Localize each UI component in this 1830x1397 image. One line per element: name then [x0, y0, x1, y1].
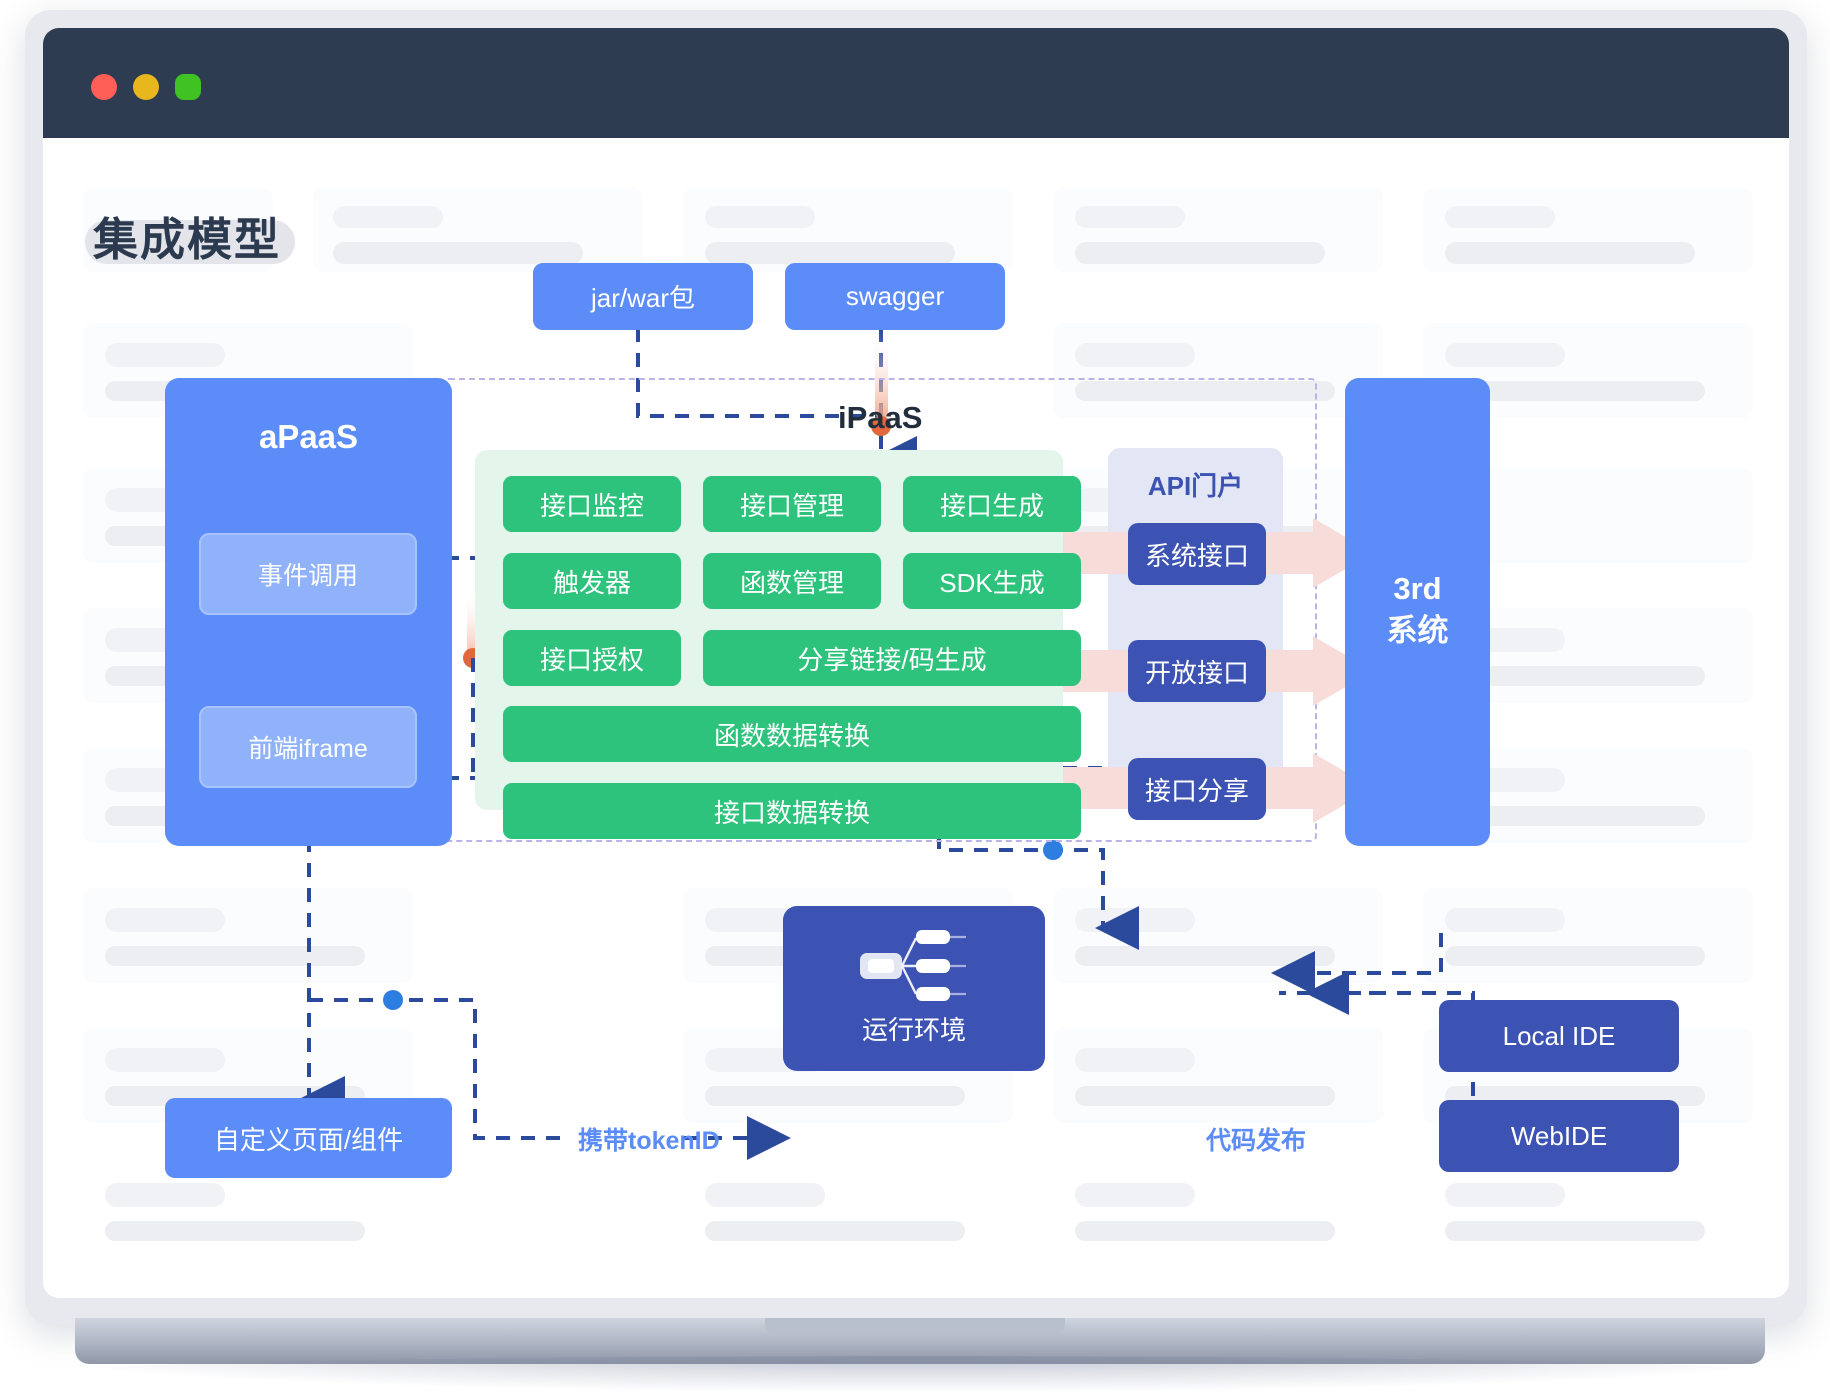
api-item-label: 开放接口 — [1145, 653, 1249, 690]
apaas-item-event-call[interactable]: 事件调用 — [199, 533, 417, 615]
api-item-label: 接口分享 — [1145, 771, 1249, 808]
apaas-item-label: 前端iframe — [248, 729, 367, 765]
source-box-jar-war[interactable]: jar/war包 — [533, 263, 753, 330]
cap-label: 接口生成 — [940, 486, 1044, 523]
local-ide-box[interactable]: Local IDE — [1439, 1000, 1679, 1072]
custom-page-component-box[interactable]: 自定义页面/组件 — [165, 1098, 452, 1178]
api-portal-item-open-interface[interactable]: 开放接口 — [1128, 640, 1266, 702]
api-portal-title: API门户 — [1108, 466, 1283, 503]
cap-label: 接口授权 — [540, 640, 644, 677]
cap-label: 分享链接/码生成 — [797, 640, 986, 677]
ipaas-cap-function-manage[interactable]: 函数管理 — [703, 553, 881, 609]
cap-label: 接口管理 — [740, 486, 844, 523]
source-label: swagger — [846, 281, 944, 312]
third-party-line1: 3rd — [1345, 568, 1490, 610]
runtime-environment-box[interactable]: 运行环境 — [783, 906, 1045, 1071]
ipaas-cap-trigger[interactable]: 触发器 — [503, 553, 681, 609]
row-label: 接口数据转换 — [714, 793, 870, 830]
maximize-button-icon[interactable] — [175, 74, 201, 100]
source-label: jar/war包 — [591, 278, 695, 315]
ipaas-row-function-data-transform[interactable]: 函数数据转换 — [503, 706, 1081, 762]
close-button-icon[interactable] — [91, 74, 117, 100]
ipaas-cap-interface-generate[interactable]: 接口生成 — [903, 476, 1081, 532]
api-item-label: 系统接口 — [1145, 536, 1249, 573]
page-title: 集成模型 — [93, 203, 281, 268]
runtime-label: 运行环境 — [862, 1010, 966, 1047]
cap-label: 接口监控 — [540, 486, 644, 523]
source-box-swagger[interactable]: swagger — [785, 263, 1005, 330]
api-portal-item-system-interface[interactable]: 系统接口 — [1128, 523, 1266, 585]
third-party-line2: 系统 — [1345, 610, 1490, 652]
laptop-frame: 集成模型 iPaaS API门户 — [25, 10, 1807, 1325]
ipaas-cap-interface-monitor[interactable]: 接口监控 — [503, 476, 681, 532]
edge-label-code-publish: 代码发布 — [1206, 1121, 1306, 1157]
browser-titlebar — [43, 28, 1789, 138]
laptop-notch — [765, 1318, 1065, 1334]
cap-label: SDK生成 — [939, 563, 1044, 600]
minimize-button-icon[interactable] — [133, 74, 159, 100]
laptop-shadow — [40, 1356, 1800, 1392]
ipaas-cap-sdk-generate[interactable]: SDK生成 — [903, 553, 1081, 609]
ipaas-row-interface-data-transform[interactable]: 接口数据转换 — [503, 783, 1081, 839]
apaas-item-label: 事件调用 — [258, 556, 358, 592]
apaas-title: aPaaS — [165, 418, 452, 456]
ipaas-title: iPaaS — [838, 400, 922, 436]
ide-label: WebIDE — [1511, 1121, 1607, 1152]
cap-label: 函数管理 — [740, 563, 844, 600]
ipaas-cap-interface-auth[interactable]: 接口授权 — [503, 630, 681, 686]
ide-label: Local IDE — [1503, 1021, 1616, 1052]
ipaas-cap-interface-manage[interactable]: 接口管理 — [703, 476, 881, 532]
diagram-canvas: 集成模型 iPaaS API门户 — [43, 138, 1789, 1298]
cap-label: 触发器 — [553, 563, 631, 600]
apaas-item-frontend-iframe[interactable]: 前端iframe — [199, 706, 417, 788]
api-portal-item-interface-share[interactable]: 接口分享 — [1128, 758, 1266, 820]
edge-label-carry-tokenid: 携带tokenID — [578, 1121, 720, 1157]
webide-box[interactable]: WebIDE — [1439, 1100, 1679, 1172]
row-label: 函数数据转换 — [714, 716, 870, 753]
ipaas-cap-share-link-qr[interactable]: 分享链接/码生成 — [703, 630, 1081, 686]
third-party-label: 3rd 系统 — [1345, 568, 1490, 652]
custom-page-label: 自定义页面/组件 — [214, 1120, 403, 1157]
branch-tree-icon — [854, 926, 974, 1004]
screen: 集成模型 iPaaS API门户 — [43, 28, 1789, 1298]
